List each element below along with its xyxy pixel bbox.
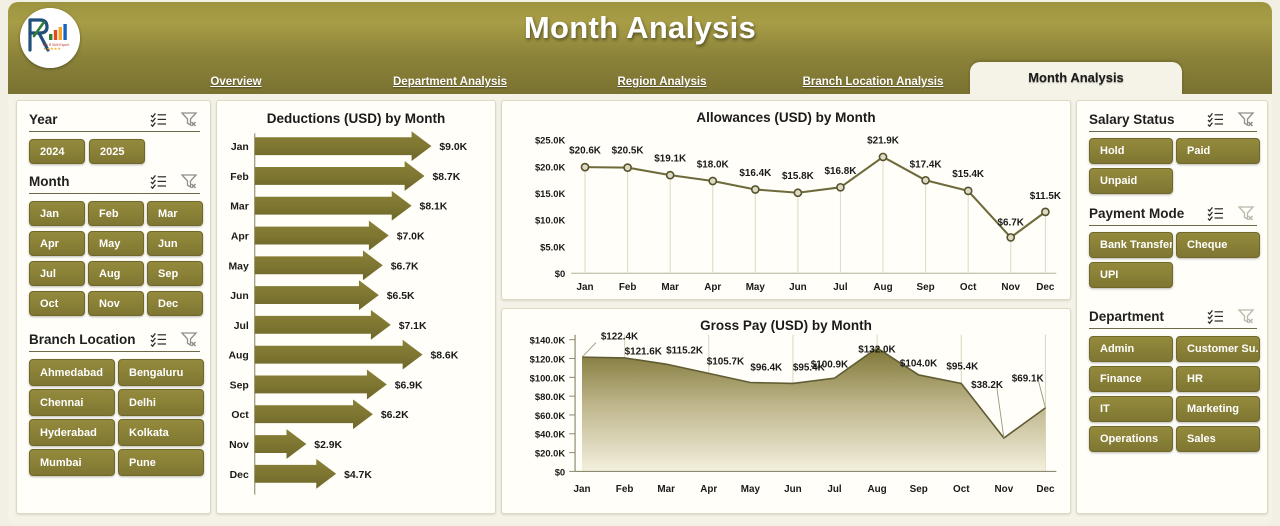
tab-branch-location-analysis[interactable]: Branch Location Analysis bbox=[790, 76, 956, 88]
svg-text:$8.7K: $8.7K bbox=[432, 172, 460, 183]
multi-select-icon[interactable] bbox=[150, 173, 168, 189]
svg-text:Nov: Nov bbox=[229, 440, 249, 451]
filter-title-payment-mode: Payment Mode bbox=[1089, 206, 1207, 221]
svg-text:$2.9K: $2.9K bbox=[314, 440, 342, 451]
funnel-bar-feb: Feb $8.7K bbox=[230, 161, 460, 191]
svg-text:Jan: Jan bbox=[231, 142, 249, 153]
svg-text:Apr: Apr bbox=[700, 484, 717, 495]
filter-header-year: Year bbox=[29, 111, 198, 127]
svg-text:$115.2K: $115.2K bbox=[666, 346, 704, 357]
left-filter-panel: Year 2024 2025 bbox=[16, 100, 211, 514]
gross-pay-x-axis: Jan Feb Mar Apr May Jun Jul Aug Sep Oct … bbox=[573, 484, 1055, 495]
filter-divider-month bbox=[29, 193, 200, 194]
svg-text:$10.0K: $10.0K bbox=[535, 215, 565, 226]
multi-select-icon[interactable] bbox=[1207, 111, 1225, 127]
filter-chip-payment-cheque[interactable]: Cheque bbox=[1176, 232, 1260, 258]
svg-text:$7.1K: $7.1K bbox=[399, 321, 427, 332]
filter-chip-year-2025[interactable]: 2025 bbox=[89, 139, 145, 164]
filter-chip-month-mar[interactable]: Mar bbox=[147, 201, 203, 226]
svg-text:May: May bbox=[229, 261, 249, 272]
svg-text:Oct: Oct bbox=[953, 484, 970, 495]
svg-text:Jul: Jul bbox=[827, 484, 842, 495]
funnel-bar-mar: Mar $8.1K bbox=[230, 191, 448, 221]
page-title: Month Analysis bbox=[8, 10, 1272, 46]
svg-text:$96.4K: $96.4K bbox=[750, 362, 783, 373]
svg-text:★★★★★: ★★★★★ bbox=[43, 46, 61, 51]
svg-text:$60.0K: $60.0K bbox=[535, 410, 565, 421]
svg-text:$7.0K: $7.0K bbox=[397, 231, 425, 242]
svg-text:Dec: Dec bbox=[1036, 484, 1055, 495]
filter-chip-month-jun[interactable]: Jun bbox=[147, 231, 203, 256]
filter-chip-branch-ahmedabad[interactable]: Ahmedabad bbox=[29, 359, 115, 386]
filter-chip-month-sep[interactable]: Sep bbox=[147, 261, 203, 286]
filter-title-branch-location: Branch Location bbox=[29, 332, 150, 347]
filter-chip-month-feb[interactable]: Feb bbox=[88, 201, 144, 226]
clear-filter-icon[interactable] bbox=[180, 173, 198, 189]
filter-chip-month-aug[interactable]: Aug bbox=[88, 261, 144, 286]
svg-text:$0: $0 bbox=[555, 466, 565, 477]
deductions-funnel-chart[interactable]: Jan $9.0K Feb $8.7K Mar $8.1K bbox=[217, 101, 495, 513]
filter-chip-dept-sales[interactable]: Sales bbox=[1176, 426, 1260, 452]
filter-chip-month-nov[interactable]: Nov bbox=[88, 291, 144, 316]
multi-select-icon[interactable] bbox=[1207, 205, 1225, 221]
svg-text:Jul: Jul bbox=[833, 282, 848, 293]
svg-text:$20.6K: $20.6K bbox=[569, 145, 602, 156]
filter-title-salary-status: Salary Status bbox=[1089, 112, 1207, 127]
svg-text:May: May bbox=[741, 484, 761, 495]
svg-text:$20.5K: $20.5K bbox=[612, 145, 645, 156]
filter-chip-status-hold[interactable]: Hold bbox=[1089, 138, 1173, 164]
filter-divider-year bbox=[29, 131, 200, 132]
filter-chip-branch-delhi[interactable]: Delhi bbox=[118, 389, 204, 416]
svg-text:$100.9K: $100.9K bbox=[811, 359, 849, 370]
filter-chip-month-jan[interactable]: Jan bbox=[29, 201, 85, 226]
filter-chip-branch-kolkata[interactable]: Kolkata bbox=[118, 419, 204, 446]
svg-text:$122.4K: $122.4K bbox=[601, 332, 639, 343]
svg-text:$17.4K: $17.4K bbox=[910, 159, 943, 170]
filter-chip-month-may[interactable]: May bbox=[88, 231, 144, 256]
gross-pay-chart-panel: Gross Pay (USD) by Month $140.0K $120.0K… bbox=[501, 308, 1071, 514]
filter-chip-payment-upi[interactable]: UPI bbox=[1089, 262, 1173, 288]
svg-text:Sep: Sep bbox=[230, 380, 249, 391]
clear-filter-icon[interactable] bbox=[1237, 308, 1255, 324]
svg-text:May: May bbox=[746, 282, 766, 293]
filter-chip-branch-hyderabad[interactable]: Hyderabad bbox=[29, 419, 115, 446]
main-navigation: Overview Department Analysis Region Anal… bbox=[8, 58, 1272, 94]
svg-text:Mar: Mar bbox=[230, 202, 249, 213]
filter-chip-dept-admin[interactable]: Admin bbox=[1089, 336, 1173, 362]
svg-text:Aug: Aug bbox=[873, 282, 892, 293]
svg-text:$5.0K: $5.0K bbox=[540, 241, 565, 252]
svg-text:Nov: Nov bbox=[995, 484, 1014, 495]
funnel-bar-nov: Nov $2.9K bbox=[229, 429, 342, 459]
svg-text:$15.0K: $15.0K bbox=[535, 188, 565, 199]
svg-text:$0: $0 bbox=[555, 268, 565, 279]
svg-text:$69.1K: $69.1K bbox=[1012, 373, 1045, 384]
svg-text:Jan: Jan bbox=[577, 282, 594, 293]
filter-chip-dept-it[interactable]: IT bbox=[1089, 396, 1173, 422]
svg-text:$21.9K: $21.9K bbox=[867, 136, 900, 147]
funnel-bars: Jan $9.0K Feb $8.7K Mar $8.1K bbox=[229, 131, 468, 488]
allowances-y-axis: $25.0K $20.0K $15.0K $10.0K $5.0K $0 bbox=[535, 135, 565, 280]
svg-text:$19.1K: $19.1K bbox=[654, 153, 687, 164]
funnel-bar-jun: Jun $6.5K bbox=[230, 280, 415, 310]
svg-text:Oct: Oct bbox=[231, 410, 249, 421]
svg-text:$95.4K: $95.4K bbox=[946, 361, 979, 372]
gross-pay-area-chart[interactable]: $140.0K $120.0K $100.0K $80.0K $60.0K $4… bbox=[502, 309, 1070, 513]
svg-text:$40.0K: $40.0K bbox=[535, 429, 565, 440]
filter-chip-dept-customer-support[interactable]: Customer Su... bbox=[1176, 336, 1260, 362]
svg-text:Jul: Jul bbox=[234, 321, 249, 332]
filter-chip-dept-finance[interactable]: Finance bbox=[1089, 366, 1173, 392]
multi-select-icon[interactable] bbox=[150, 331, 168, 347]
svg-text:$105.7K: $105.7K bbox=[707, 356, 745, 367]
filter-chip-branch-mumbai[interactable]: Mumbai bbox=[29, 449, 115, 476]
svg-text:Feb: Feb bbox=[616, 484, 634, 495]
svg-text:Jun: Jun bbox=[784, 484, 802, 495]
filter-divider-salary-status bbox=[1089, 131, 1257, 132]
filter-chip-status-paid[interactable]: Paid bbox=[1176, 138, 1260, 164]
svg-text:$9.0K: $9.0K bbox=[439, 142, 467, 153]
svg-text:Jan: Jan bbox=[573, 484, 590, 495]
svg-text:Nov: Nov bbox=[1001, 282, 1020, 293]
funnel-bar-jan: Jan $9.0K bbox=[231, 131, 468, 161]
svg-text:$104.0K: $104.0K bbox=[900, 358, 938, 369]
filter-chip-dept-operations[interactable]: Operations bbox=[1089, 426, 1173, 452]
filter-chip-branch-chennai[interactable]: Chennai bbox=[29, 389, 115, 416]
right-filter-panel: Salary Status Hold bbox=[1076, 100, 1268, 514]
svg-text:$121.6K: $121.6K bbox=[625, 347, 663, 358]
filter-divider-payment-mode bbox=[1089, 225, 1257, 226]
svg-text:Jun: Jun bbox=[789, 282, 807, 293]
svg-text:Aug: Aug bbox=[868, 484, 887, 495]
allowances-markers bbox=[581, 153, 1048, 241]
filter-chip-branch-bengaluru[interactable]: Bengaluru bbox=[118, 359, 204, 386]
svg-text:Sep: Sep bbox=[910, 484, 928, 495]
filter-chip-month-apr[interactable]: Apr bbox=[29, 231, 85, 256]
clear-filter-icon[interactable] bbox=[180, 331, 198, 347]
svg-text:Apr: Apr bbox=[704, 282, 721, 293]
svg-text:$80.0K: $80.0K bbox=[535, 391, 565, 402]
funnel-bar-dec: Dec $4.7K bbox=[230, 459, 373, 489]
allowances-chart-panel: Allowances (USD) by Month $25.0K $20.0K … bbox=[501, 100, 1071, 300]
svg-text:Oct: Oct bbox=[960, 282, 977, 293]
funnel-bar-may: May $6.7K bbox=[229, 250, 419, 280]
clear-filter-icon[interactable] bbox=[180, 111, 198, 127]
filter-header-month: Month bbox=[29, 173, 198, 189]
filter-chip-month-oct[interactable]: Oct bbox=[29, 291, 85, 316]
filter-title-department: Department bbox=[1089, 309, 1207, 324]
svg-text:Feb: Feb bbox=[619, 282, 637, 293]
page-header: The R Skill Expert ★★★★★ Month Analysis … bbox=[8, 2, 1272, 94]
svg-text:Dec: Dec bbox=[1036, 282, 1055, 293]
deductions-chart-panel: Deductions (USD) by Month Jan bbox=[216, 100, 496, 514]
svg-text:Sep: Sep bbox=[917, 282, 935, 293]
svg-text:$15.4K: $15.4K bbox=[952, 169, 985, 180]
filter-divider-department bbox=[1089, 328, 1257, 329]
svg-text:$6.7K: $6.7K bbox=[391, 261, 419, 272]
svg-text:$15.8K: $15.8K bbox=[782, 171, 815, 182]
svg-text:$140.0K: $140.0K bbox=[530, 335, 566, 346]
svg-text:$20.0K: $20.0K bbox=[535, 448, 565, 459]
svg-text:$25.0K: $25.0K bbox=[535, 135, 565, 146]
filter-chip-year-2024[interactable]: 2024 bbox=[29, 139, 85, 164]
funnel-bar-sep: Sep $6.9K bbox=[230, 370, 423, 400]
filter-chip-status-unpaid[interactable]: Unpaid bbox=[1089, 168, 1173, 194]
svg-text:Aug: Aug bbox=[229, 351, 249, 362]
svg-text:Mar: Mar bbox=[657, 484, 675, 495]
filter-title-month: Month bbox=[29, 174, 150, 189]
filter-chip-month-jul[interactable]: Jul bbox=[29, 261, 85, 286]
svg-text:$100.0K: $100.0K bbox=[530, 372, 566, 383]
tab-month-analysis[interactable]: Month Analysis bbox=[970, 62, 1182, 94]
funnel-bar-jul: Jul $7.1K bbox=[234, 310, 427, 340]
clear-filter-icon[interactable] bbox=[1237, 111, 1255, 127]
dashboard-canvas: Year 2024 2025 bbox=[8, 94, 1272, 524]
svg-text:$38.2K: $38.2K bbox=[971, 380, 1004, 391]
svg-text:$6.7K: $6.7K bbox=[998, 218, 1025, 229]
filter-header-branch-location: Branch Location bbox=[29, 331, 198, 347]
tab-department-analysis[interactable]: Department Analysis bbox=[368, 76, 532, 88]
dashboard-root: The R Skill Expert ★★★★★ Month Analysis … bbox=[0, 0, 1280, 526]
svg-text:$132.0K: $132.0K bbox=[858, 345, 896, 356]
funnel-bar-apr: Apr $7.0K bbox=[231, 221, 425, 251]
filter-header-payment-mode: Payment Mode bbox=[1089, 205, 1255, 221]
svg-text:$18.0K: $18.0K bbox=[697, 159, 730, 170]
svg-text:Mar: Mar bbox=[661, 282, 679, 293]
svg-text:Feb: Feb bbox=[230, 172, 249, 183]
filter-chip-month-dec[interactable]: Dec bbox=[147, 291, 203, 316]
svg-text:Apr: Apr bbox=[231, 231, 249, 242]
filter-chip-payment-bank-transfer[interactable]: Bank Transfer bbox=[1089, 232, 1173, 258]
funnel-bar-aug: Aug $8.6K bbox=[229, 340, 459, 370]
filter-header-department: Department bbox=[1089, 308, 1255, 324]
svg-text:$16.8K: $16.8K bbox=[825, 166, 858, 177]
allowances-line-chart[interactable]: $25.0K $20.0K $15.0K $10.0K $5.0K $0 bbox=[502, 101, 1070, 299]
tab-region-analysis[interactable]: Region Analysis bbox=[580, 76, 744, 88]
svg-text:$8.6K: $8.6K bbox=[430, 351, 458, 362]
filter-chip-dept-hr[interactable]: HR bbox=[1176, 366, 1260, 392]
svg-text:$16.4K: $16.4K bbox=[739, 168, 772, 179]
allowances-x-axis: Jan Feb Mar Apr May Jun Jul Aug Sep Oct … bbox=[577, 282, 1055, 293]
svg-text:Dec: Dec bbox=[230, 470, 249, 481]
multi-select-icon[interactable] bbox=[1207, 308, 1225, 324]
filter-divider-branch-location bbox=[29, 351, 200, 352]
funnel-bar-oct: Oct $6.2K bbox=[231, 399, 409, 429]
svg-text:$11.5K: $11.5K bbox=[1030, 191, 1062, 202]
filter-header-salary-status: Salary Status bbox=[1089, 111, 1255, 127]
filter-title-year: Year bbox=[29, 112, 150, 127]
filter-chip-dept-marketing[interactable]: Marketing bbox=[1176, 396, 1260, 422]
gross-pay-tick-marks bbox=[569, 340, 575, 472]
tab-overview[interactable]: Overview bbox=[168, 76, 304, 88]
gross-pay-y-axis: $140.0K $120.0K $100.0K $80.0K $60.0K $4… bbox=[530, 335, 566, 478]
allowances-point-labels: $20.6K $20.5K $19.1K $18.0K $16.4K $15.8… bbox=[569, 136, 1062, 229]
svg-text:Jun: Jun bbox=[230, 291, 249, 302]
svg-text:$120.0K: $120.0K bbox=[530, 353, 566, 364]
svg-text:$20.0K: $20.0K bbox=[535, 161, 565, 172]
clear-filter-icon[interactable] bbox=[1237, 205, 1255, 221]
svg-text:$4.7K: $4.7K bbox=[344, 470, 372, 481]
svg-text:$6.2K: $6.2K bbox=[381, 410, 409, 421]
svg-text:$6.5K: $6.5K bbox=[387, 291, 415, 302]
svg-text:$8.1K: $8.1K bbox=[420, 202, 448, 213]
filter-chip-branch-pune[interactable]: Pune bbox=[118, 449, 204, 476]
svg-text:$6.9K: $6.9K bbox=[395, 380, 423, 391]
multi-select-icon[interactable] bbox=[150, 111, 168, 127]
